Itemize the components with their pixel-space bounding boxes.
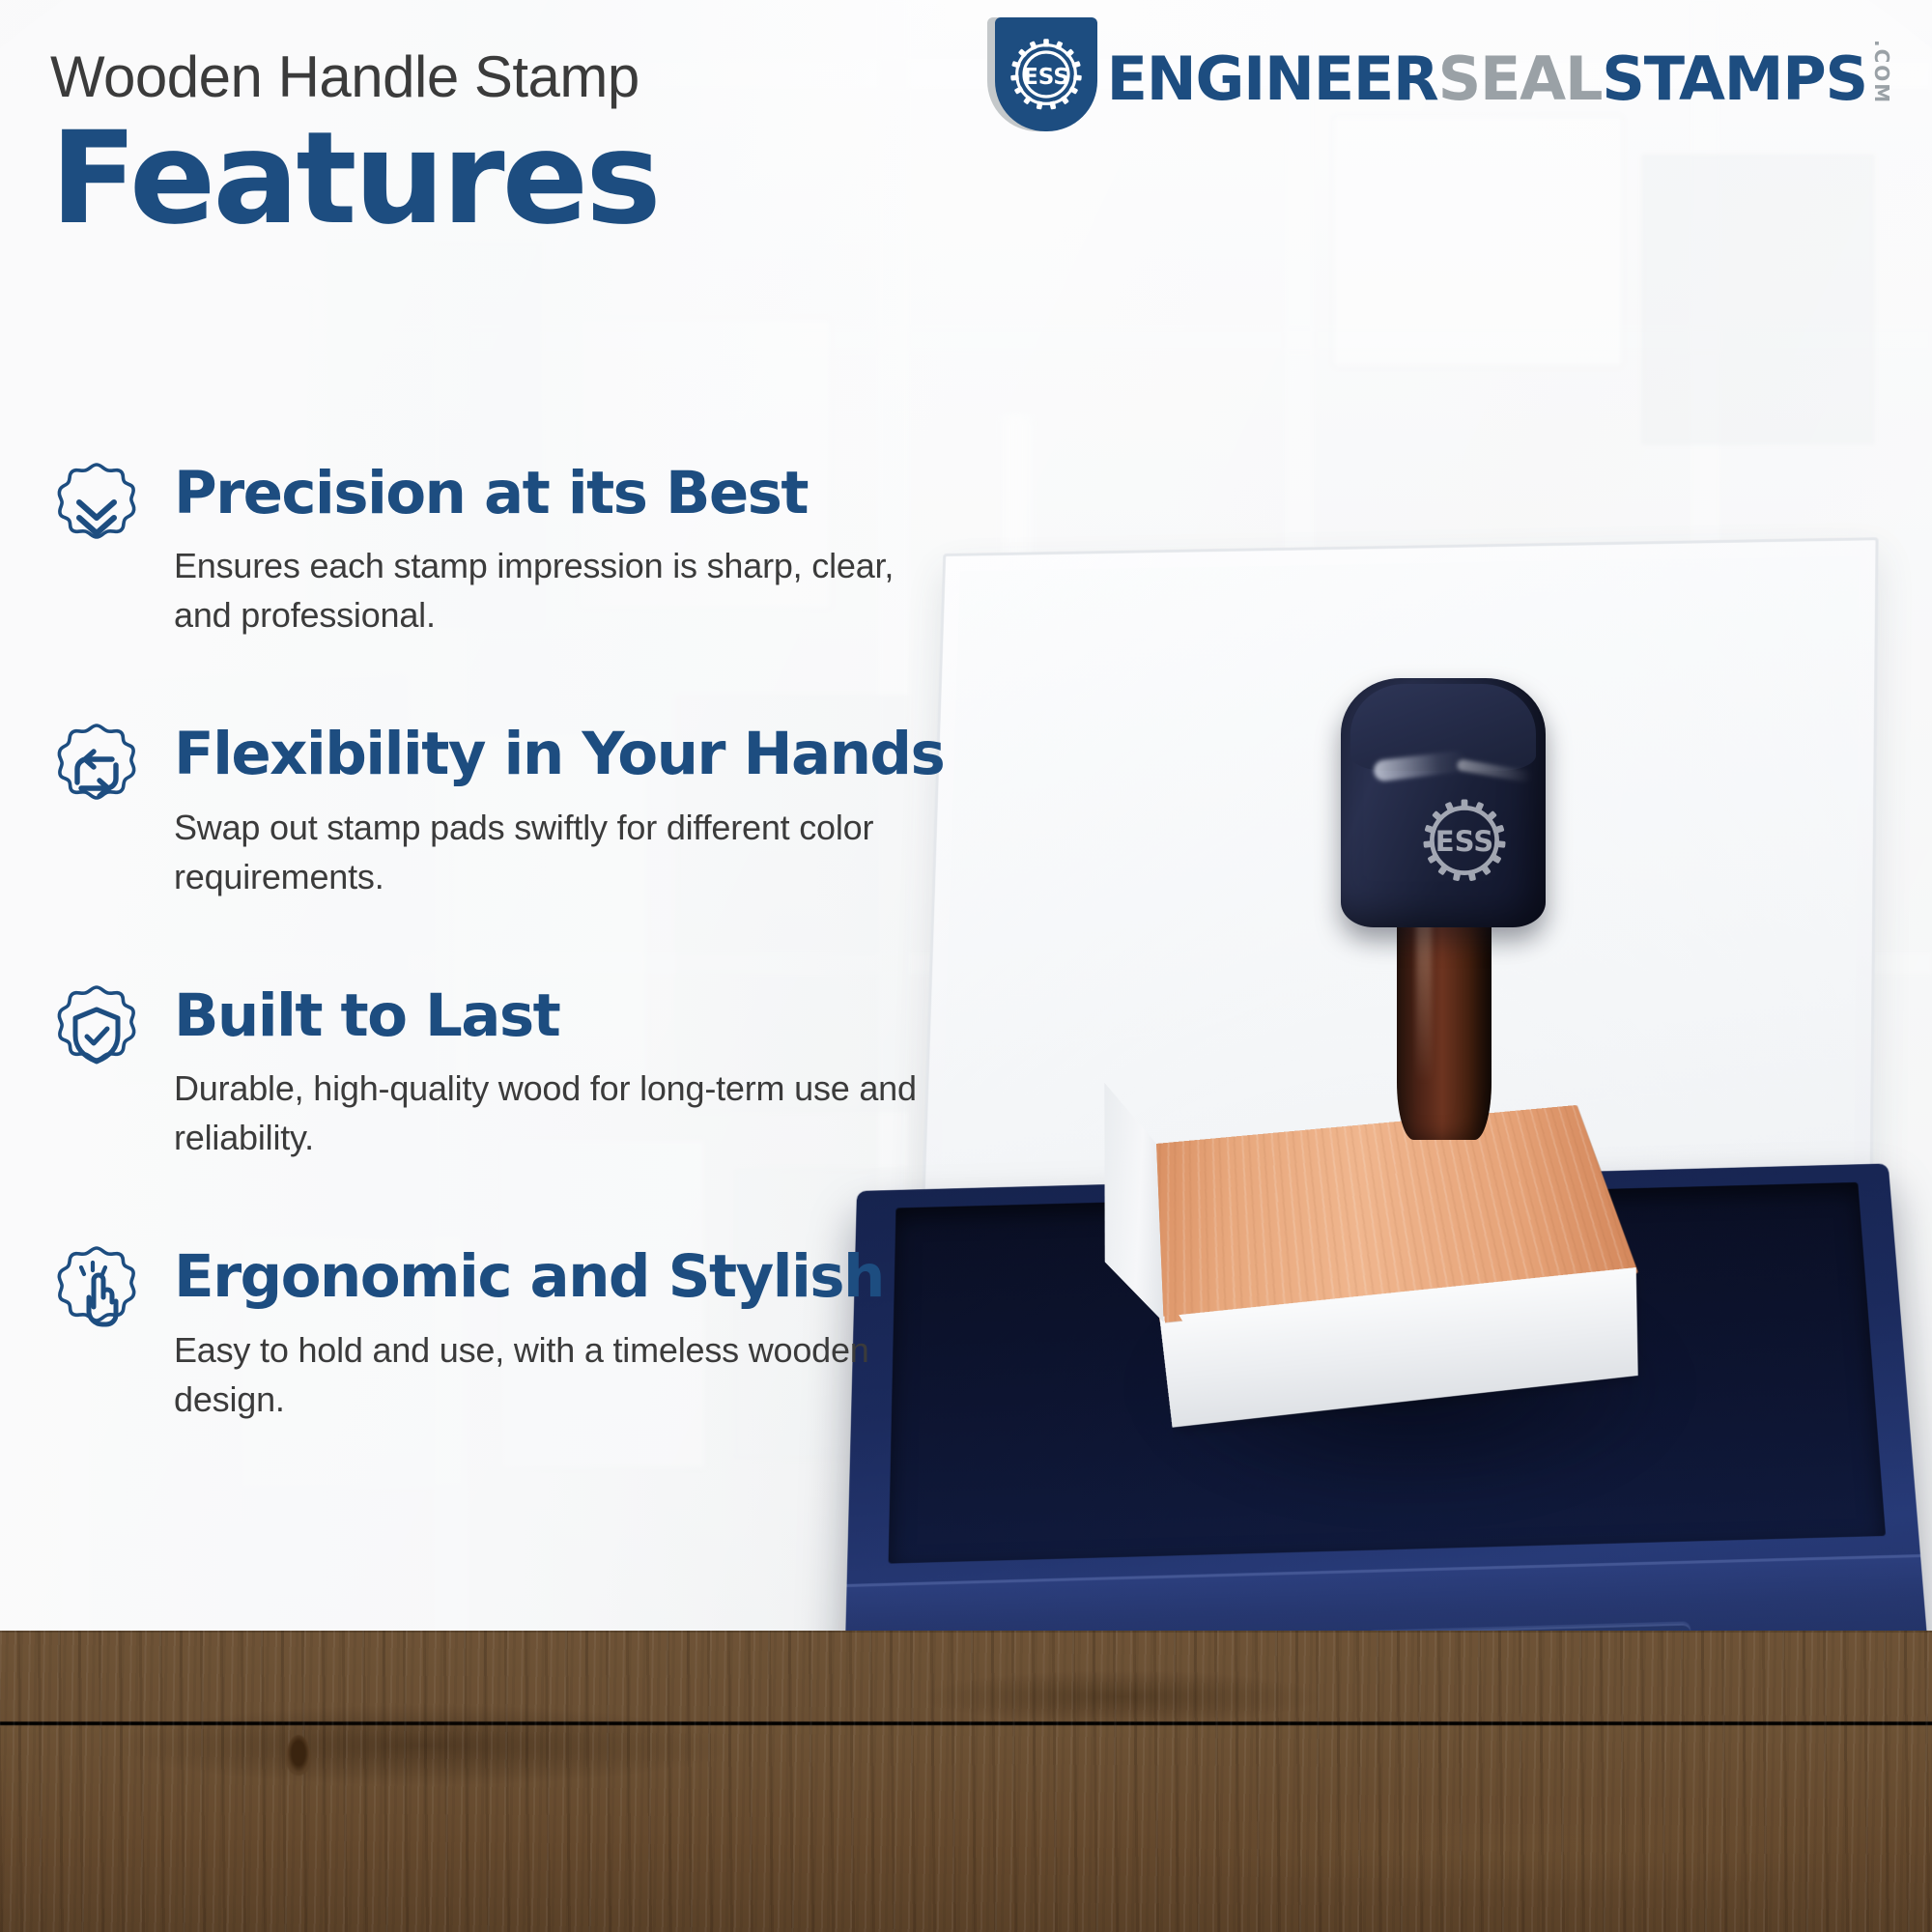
stamp-neck-highlight xyxy=(1416,910,1432,1084)
badge-tap-hand-icon xyxy=(43,1241,151,1350)
feature-list: Precision at its Best Ensures each stamp… xyxy=(43,454,1018,1424)
feature-description: Easy to hold and use, with a timeless wo… xyxy=(174,1325,947,1424)
badge-shield-check-icon xyxy=(43,980,151,1089)
feature-title: Flexibility in Your Hands xyxy=(174,724,947,784)
page-title: Wooden Handle Stamp Features xyxy=(50,46,659,241)
feature-text: Built to Last Durable, high-quality wood… xyxy=(151,977,947,1162)
feature-item: Ergonomic and Stylish Easy to hold and u… xyxy=(43,1237,1018,1423)
feature-item: Built to Last Durable, high-quality wood… xyxy=(43,977,1018,1162)
title-headline: Features xyxy=(50,117,659,241)
title-kicker: Wooden Handle Stamp xyxy=(50,46,659,107)
feature-description: Ensures each stamp impression is sharp, … xyxy=(174,541,947,639)
stamp-wooden-base xyxy=(1152,1105,1638,1323)
stamp-knob-ess-gear-icon: ESS xyxy=(1410,786,1519,899)
desk-wood-grain xyxy=(0,1631,1932,1932)
badge-swap-arrows-icon xyxy=(43,719,151,827)
feature-item: Flexibility in Your Hands Swap out stamp… xyxy=(43,715,1018,900)
feature-title: Ergonomic and Stylish xyxy=(174,1247,947,1307)
stamp-wooden-neck xyxy=(1397,898,1492,1140)
feature-text: Ergonomic and Stylish Easy to hold and u… xyxy=(151,1237,947,1423)
feature-text: Precision at its Best Ensures each stamp… xyxy=(151,454,947,639)
wooden-desk-surface xyxy=(0,1631,1932,1932)
stamp-handle-knob: ESS xyxy=(1341,678,1546,927)
feature-description: Swap out stamp pads swiftly for differen… xyxy=(174,803,947,901)
desk-wood-knot xyxy=(286,1735,311,1776)
feature-title: Built to Last xyxy=(174,986,947,1046)
feature-title: Precision at its Best xyxy=(174,464,947,524)
infographic-canvas: Wooden Handle Stamp Features xyxy=(0,0,1932,1932)
feature-text: Flexibility in Your Hands Swap out stamp… xyxy=(151,715,947,900)
feature-description: Durable, high-quality wood for long-term… xyxy=(174,1064,947,1162)
feature-item: Precision at its Best Ensures each stamp… xyxy=(43,454,1018,639)
badge-double-chevron-down-icon xyxy=(43,458,151,566)
stamp-knob-mark-text: ESS xyxy=(1435,825,1494,858)
